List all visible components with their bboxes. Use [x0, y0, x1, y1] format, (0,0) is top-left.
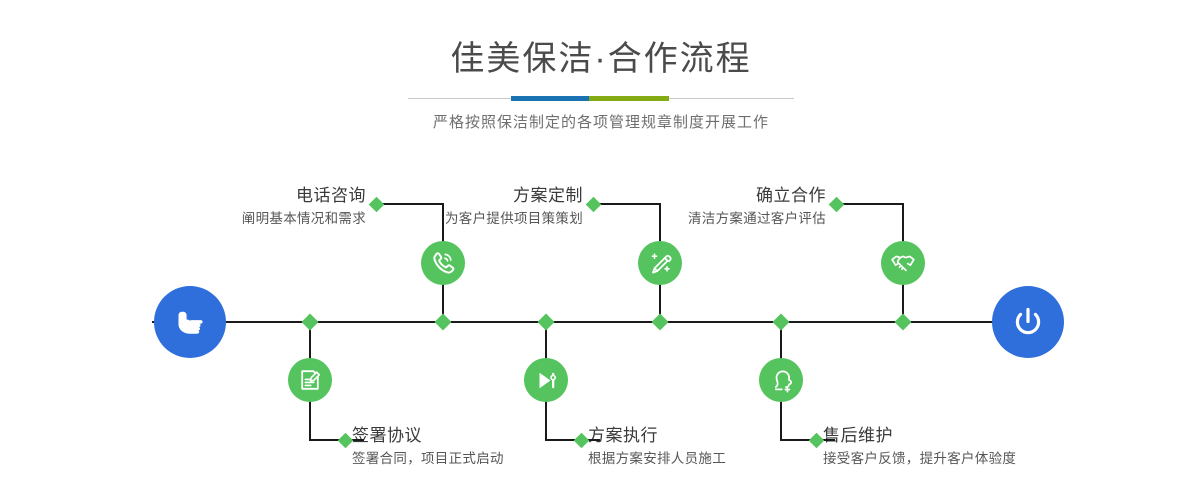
- page-header: 佳美保洁·合作流程 严格按照保洁制定的各项管理规章制度开展工作: [0, 36, 1202, 133]
- step-title-1: 电话咨询: [242, 185, 366, 207]
- page-subtitle: 严格按照保洁制定的各项管理规章制度开展工作: [0, 113, 1202, 133]
- step-icon-4[interactable]: [524, 358, 568, 402]
- play-execute-icon: [534, 368, 559, 393]
- step-label-4: 方案执行 根据方案安排人员施工: [588, 425, 726, 469]
- support-agent-icon: [769, 368, 794, 393]
- step-title-5: 确立合作: [688, 185, 826, 207]
- axis-marker-3: [652, 314, 669, 331]
- step-icon-6[interactable]: [759, 358, 803, 402]
- step-desc-4: 根据方案安排人员施工: [588, 449, 726, 469]
- title-divider: [408, 96, 794, 102]
- label-marker-1: [369, 197, 385, 213]
- label-marker-5: [829, 197, 845, 213]
- step-desc-1: 阐明基本情况和需求: [242, 209, 366, 229]
- phone-call-icon: [430, 250, 456, 276]
- label-marker-4: [574, 433, 590, 449]
- axis-marker-6: [773, 314, 790, 331]
- timeline-start-node[interactable]: [154, 286, 226, 358]
- step-label-2: 签署协议 签署合同，项目正式启动: [352, 425, 504, 469]
- timeline-axis: [152, 321, 1050, 323]
- step-desc-2: 签署合同，项目正式启动: [352, 449, 504, 469]
- step-desc-6: 接受客户反馈，提升客户体验度: [823, 449, 1016, 469]
- step-label-6: 售后维护 接受客户反馈，提升客户体验度: [823, 425, 1016, 469]
- step-icon-2[interactable]: [288, 358, 332, 402]
- axis-marker-1: [435, 314, 452, 331]
- step-desc-3: 为客户提供项目策策划: [445, 209, 583, 229]
- pointing-hand-icon: [170, 302, 210, 342]
- label-marker-6: [809, 433, 825, 449]
- axis-marker-4: [538, 314, 555, 331]
- step-icon-5[interactable]: [881, 241, 925, 285]
- step-label-1: 电话咨询 阐明基本情况和需求: [242, 185, 366, 229]
- timeline-end-node[interactable]: [992, 286, 1064, 358]
- step-title-3: 方案定制: [445, 185, 583, 207]
- axis-marker-2: [302, 314, 319, 331]
- handshake-icon: [890, 250, 916, 276]
- flow-diagram-page: 佳美保洁·合作流程 严格按照保洁制定的各项管理规章制度开展工作 电话: [0, 0, 1202, 502]
- pencil-icon: [648, 251, 673, 276]
- step-title-4: 方案执行: [588, 425, 726, 447]
- step-icon-3[interactable]: [638, 241, 682, 285]
- axis-marker-5: [895, 314, 912, 331]
- page-title: 佳美保洁·合作流程: [0, 36, 1202, 82]
- step-title-6: 售后维护: [823, 425, 1016, 447]
- step-title-2: 签署协议: [352, 425, 504, 447]
- step-icon-1[interactable]: [421, 241, 465, 285]
- divider-segment-blue: [511, 96, 589, 101]
- divider-segment-green: [589, 96, 669, 101]
- step-label-5: 确立合作 清洁方案通过客户评估: [688, 185, 826, 229]
- label-marker-2: [338, 433, 354, 449]
- label-marker-3: [586, 197, 602, 213]
- step-desc-5: 清洁方案通过客户评估: [688, 209, 826, 229]
- connector-horizontal-1: [376, 203, 444, 205]
- power-icon: [1008, 302, 1048, 342]
- connector-horizontal-3: [593, 203, 661, 205]
- connector-horizontal-5: [836, 203, 904, 205]
- step-label-3: 方案定制 为客户提供项目策策划: [445, 185, 583, 229]
- document-edit-icon: [298, 368, 322, 392]
